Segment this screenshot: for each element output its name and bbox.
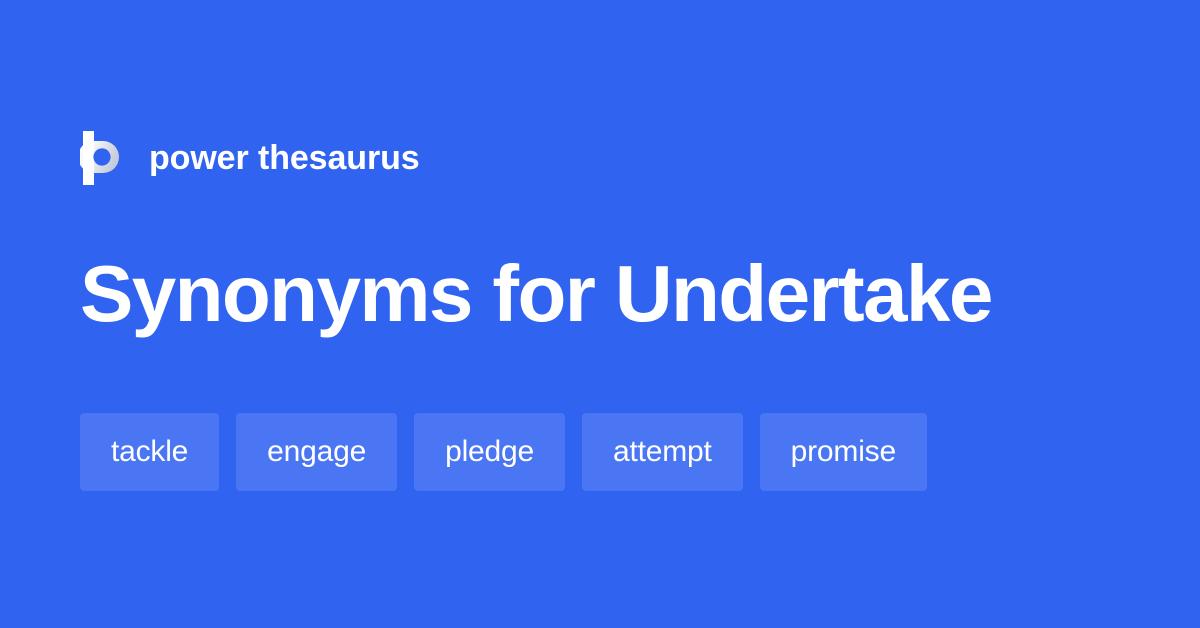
synonym-chip[interactable]: tackle — [80, 413, 219, 491]
synonym-chip[interactable]: engage — [236, 413, 397, 491]
page-title: Synonyms for Undertake — [80, 250, 992, 338]
synonyms-share-card: power thesaurus Synonyms for Undertake t… — [0, 0, 1200, 628]
synonym-chip[interactable]: pledge — [414, 413, 565, 491]
brand-lockup[interactable]: power thesaurus — [80, 126, 420, 190]
power-thesaurus-b-logo-icon — [80, 131, 124, 185]
synonym-chip[interactable]: promise — [760, 413, 927, 491]
synonym-chip-list: tackle engage pledge attempt promise — [80, 413, 927, 491]
synonym-chip[interactable]: attempt — [582, 413, 743, 491]
brand-name: power thesaurus — [149, 141, 420, 175]
